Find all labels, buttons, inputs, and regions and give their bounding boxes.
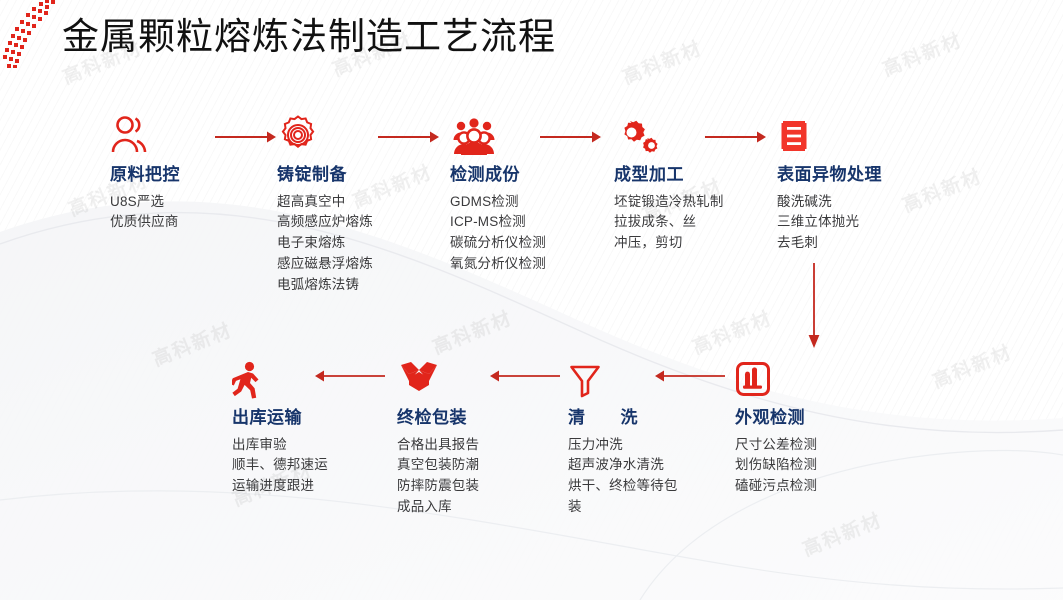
flow-step-detail-list: 坯锭锻造冷热轧制 拉拔成条、丝 冲压，剪切 <box>614 192 789 255</box>
funnel-icon <box>568 355 743 399</box>
flow-step-detail: 超高真空中 <box>277 192 452 213</box>
arrow-down-icon <box>806 263 822 349</box>
arrow-right-icon-4 <box>705 130 767 144</box>
arrow-right-icon-2 <box>378 130 440 144</box>
flow-step-detail: 坯锭锻造冷热轧制 <box>614 192 789 213</box>
flow-step-detail: 电弧熔炼法铸 <box>277 275 452 296</box>
flow-step-detail: U8S严选 <box>110 192 285 213</box>
flow-step-detail: 拉拔成条、丝 <box>614 212 789 233</box>
flow-step-detail: 压力冲洗 <box>568 435 686 456</box>
flow-step-detail-list: 压力冲洗 超声波净水清洗 烘干、终检等待包装 <box>568 435 743 519</box>
flow-step-detail: 感应磁悬浮熔炼 <box>277 254 452 275</box>
flow-step-detail: 高频感应炉熔炼 <box>277 212 452 233</box>
flow-step-cleaning[interactable]: 清 洗 压力冲洗 超声波净水清洗 烘干、终检等待包装 <box>568 355 743 518</box>
flow-step-detail: ICP-MS检测 <box>450 212 625 233</box>
flow-step-title: 成型加工 <box>614 165 789 185</box>
flow-step-title: 检测成份 <box>450 165 625 185</box>
flow-step-detail-list: 合格出具报告 真空包装防潮 防摔防震包装 成品入库 <box>397 435 572 519</box>
flow-step-detail: 磕碰污点检测 <box>735 476 910 497</box>
flow-step-detail: 尺寸公差检测 <box>735 435 910 456</box>
flow-step-title: 外观检测 <box>735 408 910 428</box>
flow-step-detail: 烘干、终检等待包装 <box>568 476 686 518</box>
flow-step-detail: 真空包装防潮 <box>397 455 572 476</box>
flow-step-detail: 电子束熔炼 <box>277 233 452 254</box>
flow-step-detail-list: GDMS检测 ICP-MS检测 碳硫分析仪检测 氧氮分析仪检测 <box>450 192 625 276</box>
flow-step-detail-list: 酸洗碱洗 三维立体抛光 去毛刺 <box>777 192 952 255</box>
flow-step-detail: 去毛刺 <box>777 233 952 254</box>
flow-step-detail: 出库审验 <box>232 435 407 456</box>
flow-step-detail: 冲压，剪切 <box>614 233 789 254</box>
flow-step-final-inspection-packaging[interactable]: 终检包装 合格出具报告 真空包装防潮 防摔防震包装 成品入库 <box>397 355 572 518</box>
flow-step-detail: 防摔防震包装 <box>397 476 572 497</box>
process-flow-diagram: 原料把控 U8S严选 优质供应商 铸锭制备 超高真空中 高频感应炉熔炼 电子束熔… <box>0 0 1063 600</box>
flow-step-appearance-inspection[interactable]: 外观检测 尺寸公差检测 划伤缺陷检测 磕碰污点检测 <box>735 355 910 497</box>
walking-person-icon <box>232 355 407 399</box>
flow-step-detail: GDMS检测 <box>450 192 625 213</box>
flow-step-title: 铸锭制备 <box>277 165 452 185</box>
flow-step-detail: 氧氮分析仪检测 <box>450 254 625 275</box>
flow-step-detail: 三维立体抛光 <box>777 212 952 233</box>
flow-step-detail: 成品入库 <box>397 497 572 518</box>
flow-step-detail: 划伤缺陷检测 <box>735 455 910 476</box>
flow-step-detail: 合格出具报告 <box>397 435 572 456</box>
flow-step-outbound-transport[interactable]: 出库运输 出库审验 顺丰、德邦速运 运输进度跟进 <box>232 355 407 497</box>
open-box-icon <box>397 355 572 399</box>
flow-step-title: 终检包装 <box>397 408 572 428</box>
flow-step-detail-list: 出库审验 顺丰、德邦速运 运输进度跟进 <box>232 435 407 498</box>
flow-step-detail-list: 超高真空中 高频感应炉熔炼 电子束熔炼 感应磁悬浮熔炼 电弧熔炼法铸 <box>277 192 452 297</box>
flow-step-detail: 碳硫分析仪检测 <box>450 233 625 254</box>
flow-step-detail: 顺丰、德邦速运 <box>232 455 407 476</box>
flow-step-detail-list: U8S严选 优质供应商 <box>110 192 285 234</box>
flow-step-detail: 超声波净水清洗 <box>568 455 686 476</box>
flow-step-title: 原料把控 <box>110 165 285 185</box>
flow-step-title: 出库运输 <box>232 408 407 428</box>
flow-step-detail: 酸洗碱洗 <box>777 192 952 213</box>
flow-step-detail: 优质供应商 <box>110 212 285 233</box>
flow-step-detail-list: 尺寸公差检测 划伤缺陷检测 磕碰污点检测 <box>735 435 910 498</box>
flow-step-detail: 运输进度跟进 <box>232 476 407 497</box>
flow-step-title: 表面异物处理 <box>777 165 952 185</box>
flow-step-title: 清 洗 <box>568 408 743 428</box>
flow-step-surface-foreign-matter-treatment[interactable]: 表面异物处理 酸洗碱洗 三维立体抛光 去毛刺 <box>777 112 952 254</box>
arrow-right-icon-1 <box>215 130 277 144</box>
arrow-right-icon-3 <box>540 130 602 144</box>
microscope-box-icon <box>735 355 910 399</box>
document-lines-icon <box>777 112 952 156</box>
